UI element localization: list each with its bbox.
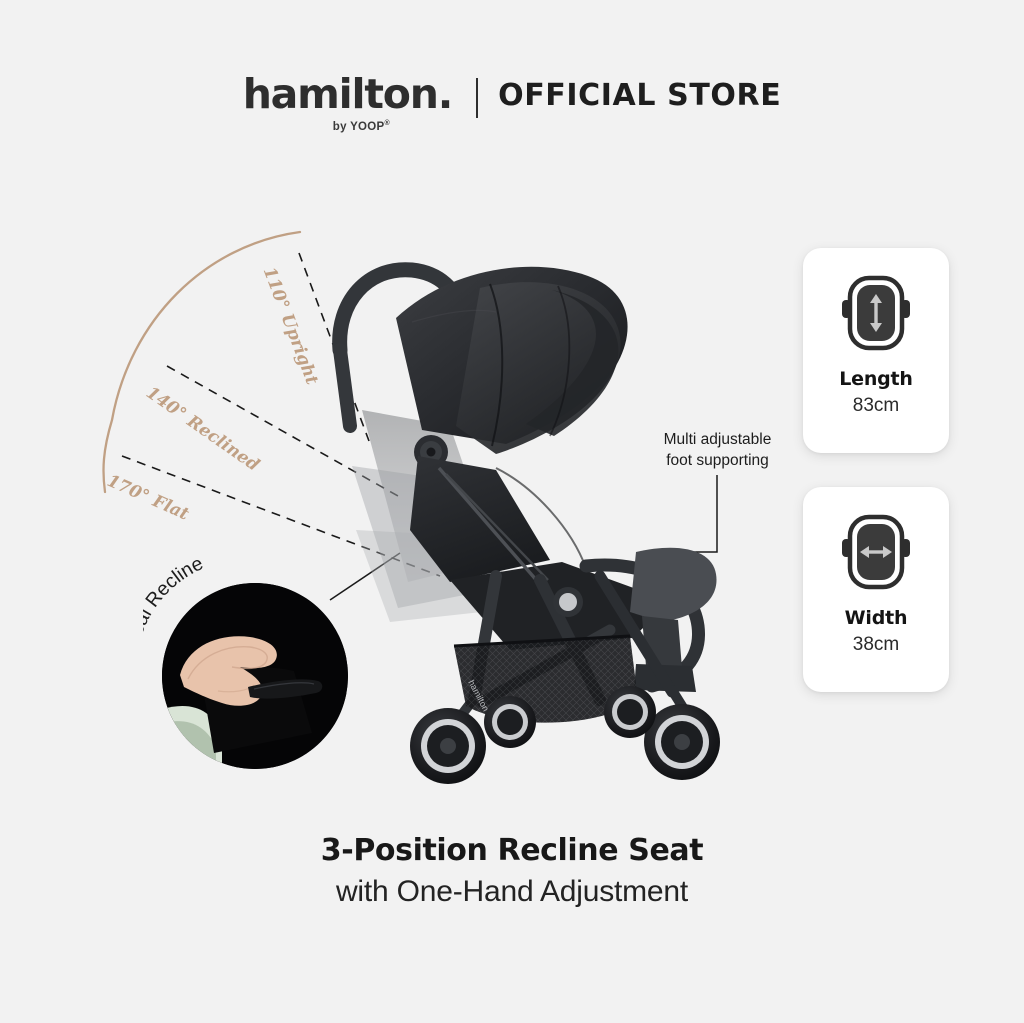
spec-title-length: Length (839, 368, 913, 390)
hamilton-logo: hamilton. by YOOP® (243, 74, 470, 133)
footer-headline: 3-Position Recline Seat with One-Hand Ad… (0, 832, 1024, 910)
official-store-label: OFFICIAL STORE (498, 81, 781, 111)
spec-value-width: 38cm (853, 634, 899, 656)
recline-photo-content (162, 583, 348, 769)
stroller-product-image: hamilton (300, 230, 770, 790)
stroller-canopy (396, 267, 628, 454)
headline-sub: with One-Hand Adjustment (0, 873, 1024, 911)
spec-card-width: Width 38cm (803, 487, 949, 692)
length-arrow-icon (834, 274, 918, 352)
spec-value-length: 83cm (853, 395, 899, 417)
foot-callout-line2: foot supporting (645, 451, 790, 472)
registered-mark-icon: ® (385, 120, 390, 127)
spec-title-width: Width (845, 607, 908, 629)
header-divider (476, 78, 478, 118)
spec-card-length: Length 83cm (803, 248, 949, 453)
brand-header: hamilton. by YOOP® OFFICIAL STORE (0, 74, 1024, 144)
angle-label-flat: 170° Flat (104, 471, 192, 525)
foot-callout-line1: Multi adjustable (645, 430, 790, 451)
rear-wheel-inner (484, 696, 536, 748)
logo-wordmark: hamilton. (243, 74, 452, 115)
rear-wheel (410, 708, 486, 784)
angle-label-reclined: 140° Reclined (142, 383, 263, 476)
foot-support-callout: Multi adjustable foot supporting (645, 430, 790, 472)
infographic-page: hamilton. by YOOP® OFFICIAL STORE 110° U… (0, 0, 1024, 1023)
front-wheel-inner (604, 686, 656, 738)
logo-subtitle: by YOOP® (333, 120, 390, 133)
frame-hinge (553, 587, 583, 617)
logo-subtitle-text: by YOOP (333, 121, 385, 133)
mechanical-recline-photo (162, 583, 348, 769)
headline-main: 3-Position Recline Seat (0, 832, 1024, 870)
width-arrow-icon (834, 513, 918, 591)
